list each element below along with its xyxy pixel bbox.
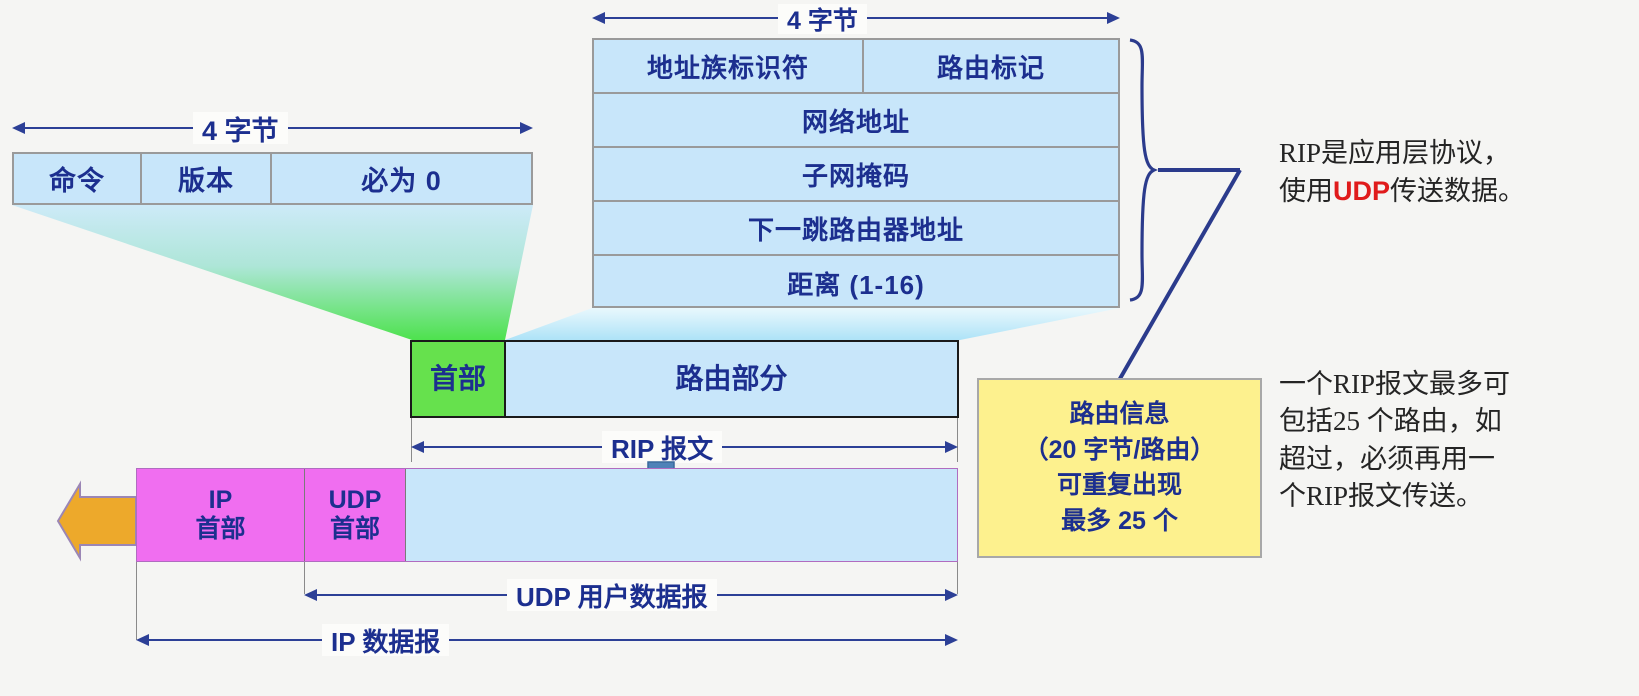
note-max-routes: 一个RIP报文最多可 包括25 个路由，如 超过，必须再用一 个RIP报文传送。 [1279, 366, 1631, 515]
note-top-highlight: UDP [1333, 176, 1390, 206]
ip-datagram-dimension: IP 数据报 [136, 630, 958, 652]
segment-payload [406, 469, 957, 561]
note-top-after: 传送数据。 [1390, 176, 1525, 206]
ip-dim-tick-left [136, 562, 137, 640]
note-rip-application-layer: RIP是应用层协议， 使用UDP传送数据。 [1279, 98, 1629, 210]
segment-udp-header: UDP 首部 [305, 469, 406, 561]
udp-datagram-dimension: UDP 用户数据报 [304, 585, 958, 607]
route-info-callout: 路由信息 （20 字节/路由） 可重复出现 最多 25 个 [977, 378, 1262, 558]
segment-ip-header: IP 首部 [137, 469, 305, 561]
ip-datagram-strip: IP 首部 UDP 首部 [136, 468, 958, 562]
rip-packet-diagram: 4 字节 地址族标识符 路由标记 网络地址 子网掩码 下一跳路由器地址 距离 (… [0, 0, 1639, 696]
left-arrow-icon [58, 484, 136, 558]
udp-datagram-dimension-label: UDP 用户数据报 [507, 579, 717, 611]
ip-datagram-dimension-label: IP 数据报 [322, 624, 449, 656]
